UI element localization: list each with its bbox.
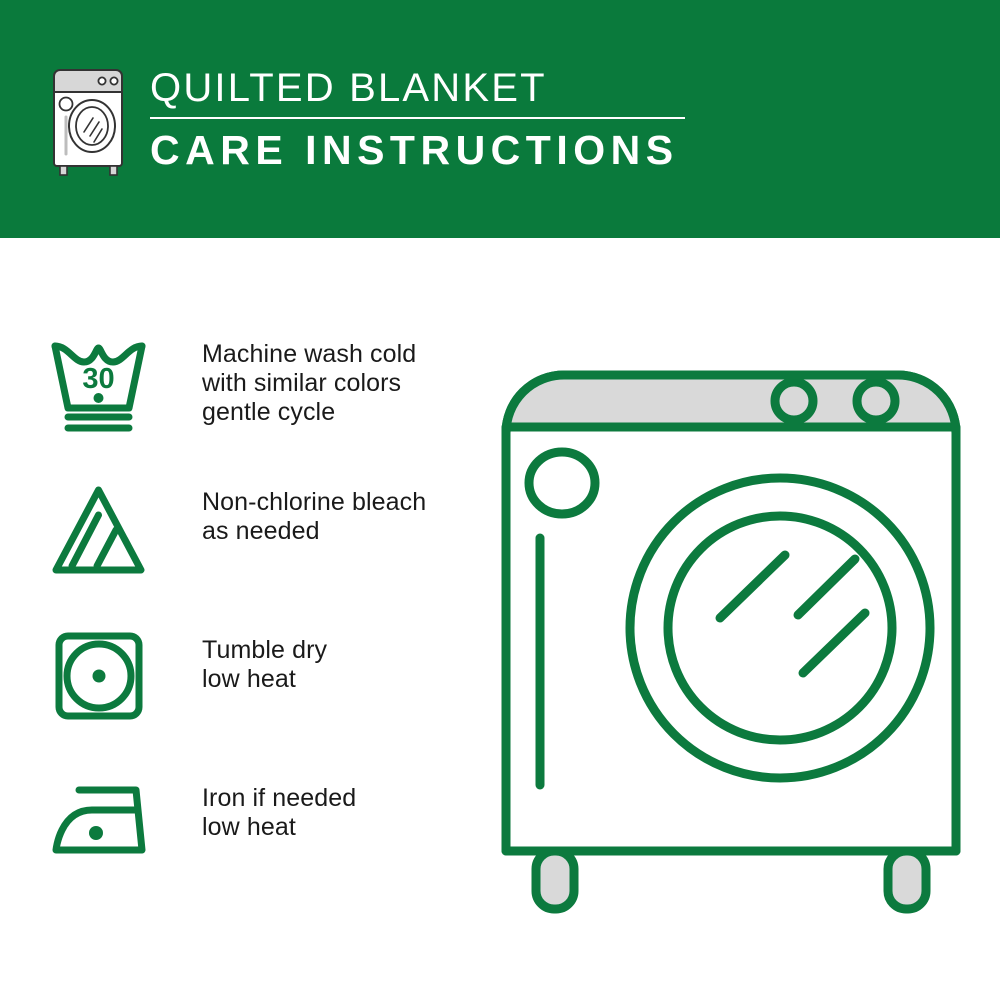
iron-low-heat-symbol <box>46 776 162 876</box>
machine-leg-left <box>536 851 574 909</box>
care-label-line: Machine wash cold <box>202 340 416 369</box>
machine-door-inner <box>668 516 892 740</box>
care-label-line: low heat <box>202 665 327 694</box>
header-banner: QUILTED BLANKET CARE INSTRUCTIONS <box>0 0 1000 238</box>
care-label-line: as needed <box>202 517 426 546</box>
machine-wash-30-gentle-symbol: 30 <box>46 332 162 432</box>
page-title: QUILTED BLANKET <box>150 66 685 110</box>
front-load-washing-machine-illustration <box>480 323 980 948</box>
care-row: Iron if needed low heat <box>46 776 476 924</box>
tumble-dry-low-heat-symbol <box>46 628 162 728</box>
header-content: QUILTED BLANKET CARE INSTRUCTIONS <box>44 62 685 180</box>
title-divider <box>150 117 685 119</box>
care-label-line: gentle cycle <box>202 398 416 427</box>
care-label-line: low heat <box>202 813 356 842</box>
non-chlorine-bleach-symbol <box>46 480 162 580</box>
care-label-line: with similar colors <box>202 369 416 398</box>
care-label-line: Tumble dry <box>202 636 327 665</box>
wash-temperature-value: 30 <box>82 363 114 395</box>
washing-machine-icon <box>44 62 136 180</box>
care-row: Tumble dry low heat <box>46 628 476 776</box>
header-title-group: QUILTED BLANKET CARE INSTRUCTIONS <box>150 62 685 173</box>
care-row: Non-chlorine bleach as needed <box>46 480 476 628</box>
detergent-port-circle <box>529 452 595 514</box>
page-subtitle: CARE INSTRUCTIONS <box>150 127 685 173</box>
care-label-line: Non-chlorine bleach <box>202 488 426 517</box>
control-knob-2 <box>857 382 895 420</box>
care-label: Machine wash cold with similar colors ge… <box>202 332 416 427</box>
machine-leg-right <box>888 851 926 909</box>
content-area: 30 Machine wash cold with similar colors… <box>0 238 1000 1000</box>
care-instruction-list: 30 Machine wash cold with similar colors… <box>46 332 476 924</box>
care-label-line: Iron if needed <box>202 784 356 813</box>
control-knob-1 <box>775 382 813 420</box>
care-label: Tumble dry low heat <box>202 628 327 694</box>
care-label: Non-chlorine bleach as needed <box>202 480 426 546</box>
care-label: Iron if needed low heat <box>202 776 356 842</box>
care-row: 30 Machine wash cold with similar colors… <box>46 332 476 480</box>
